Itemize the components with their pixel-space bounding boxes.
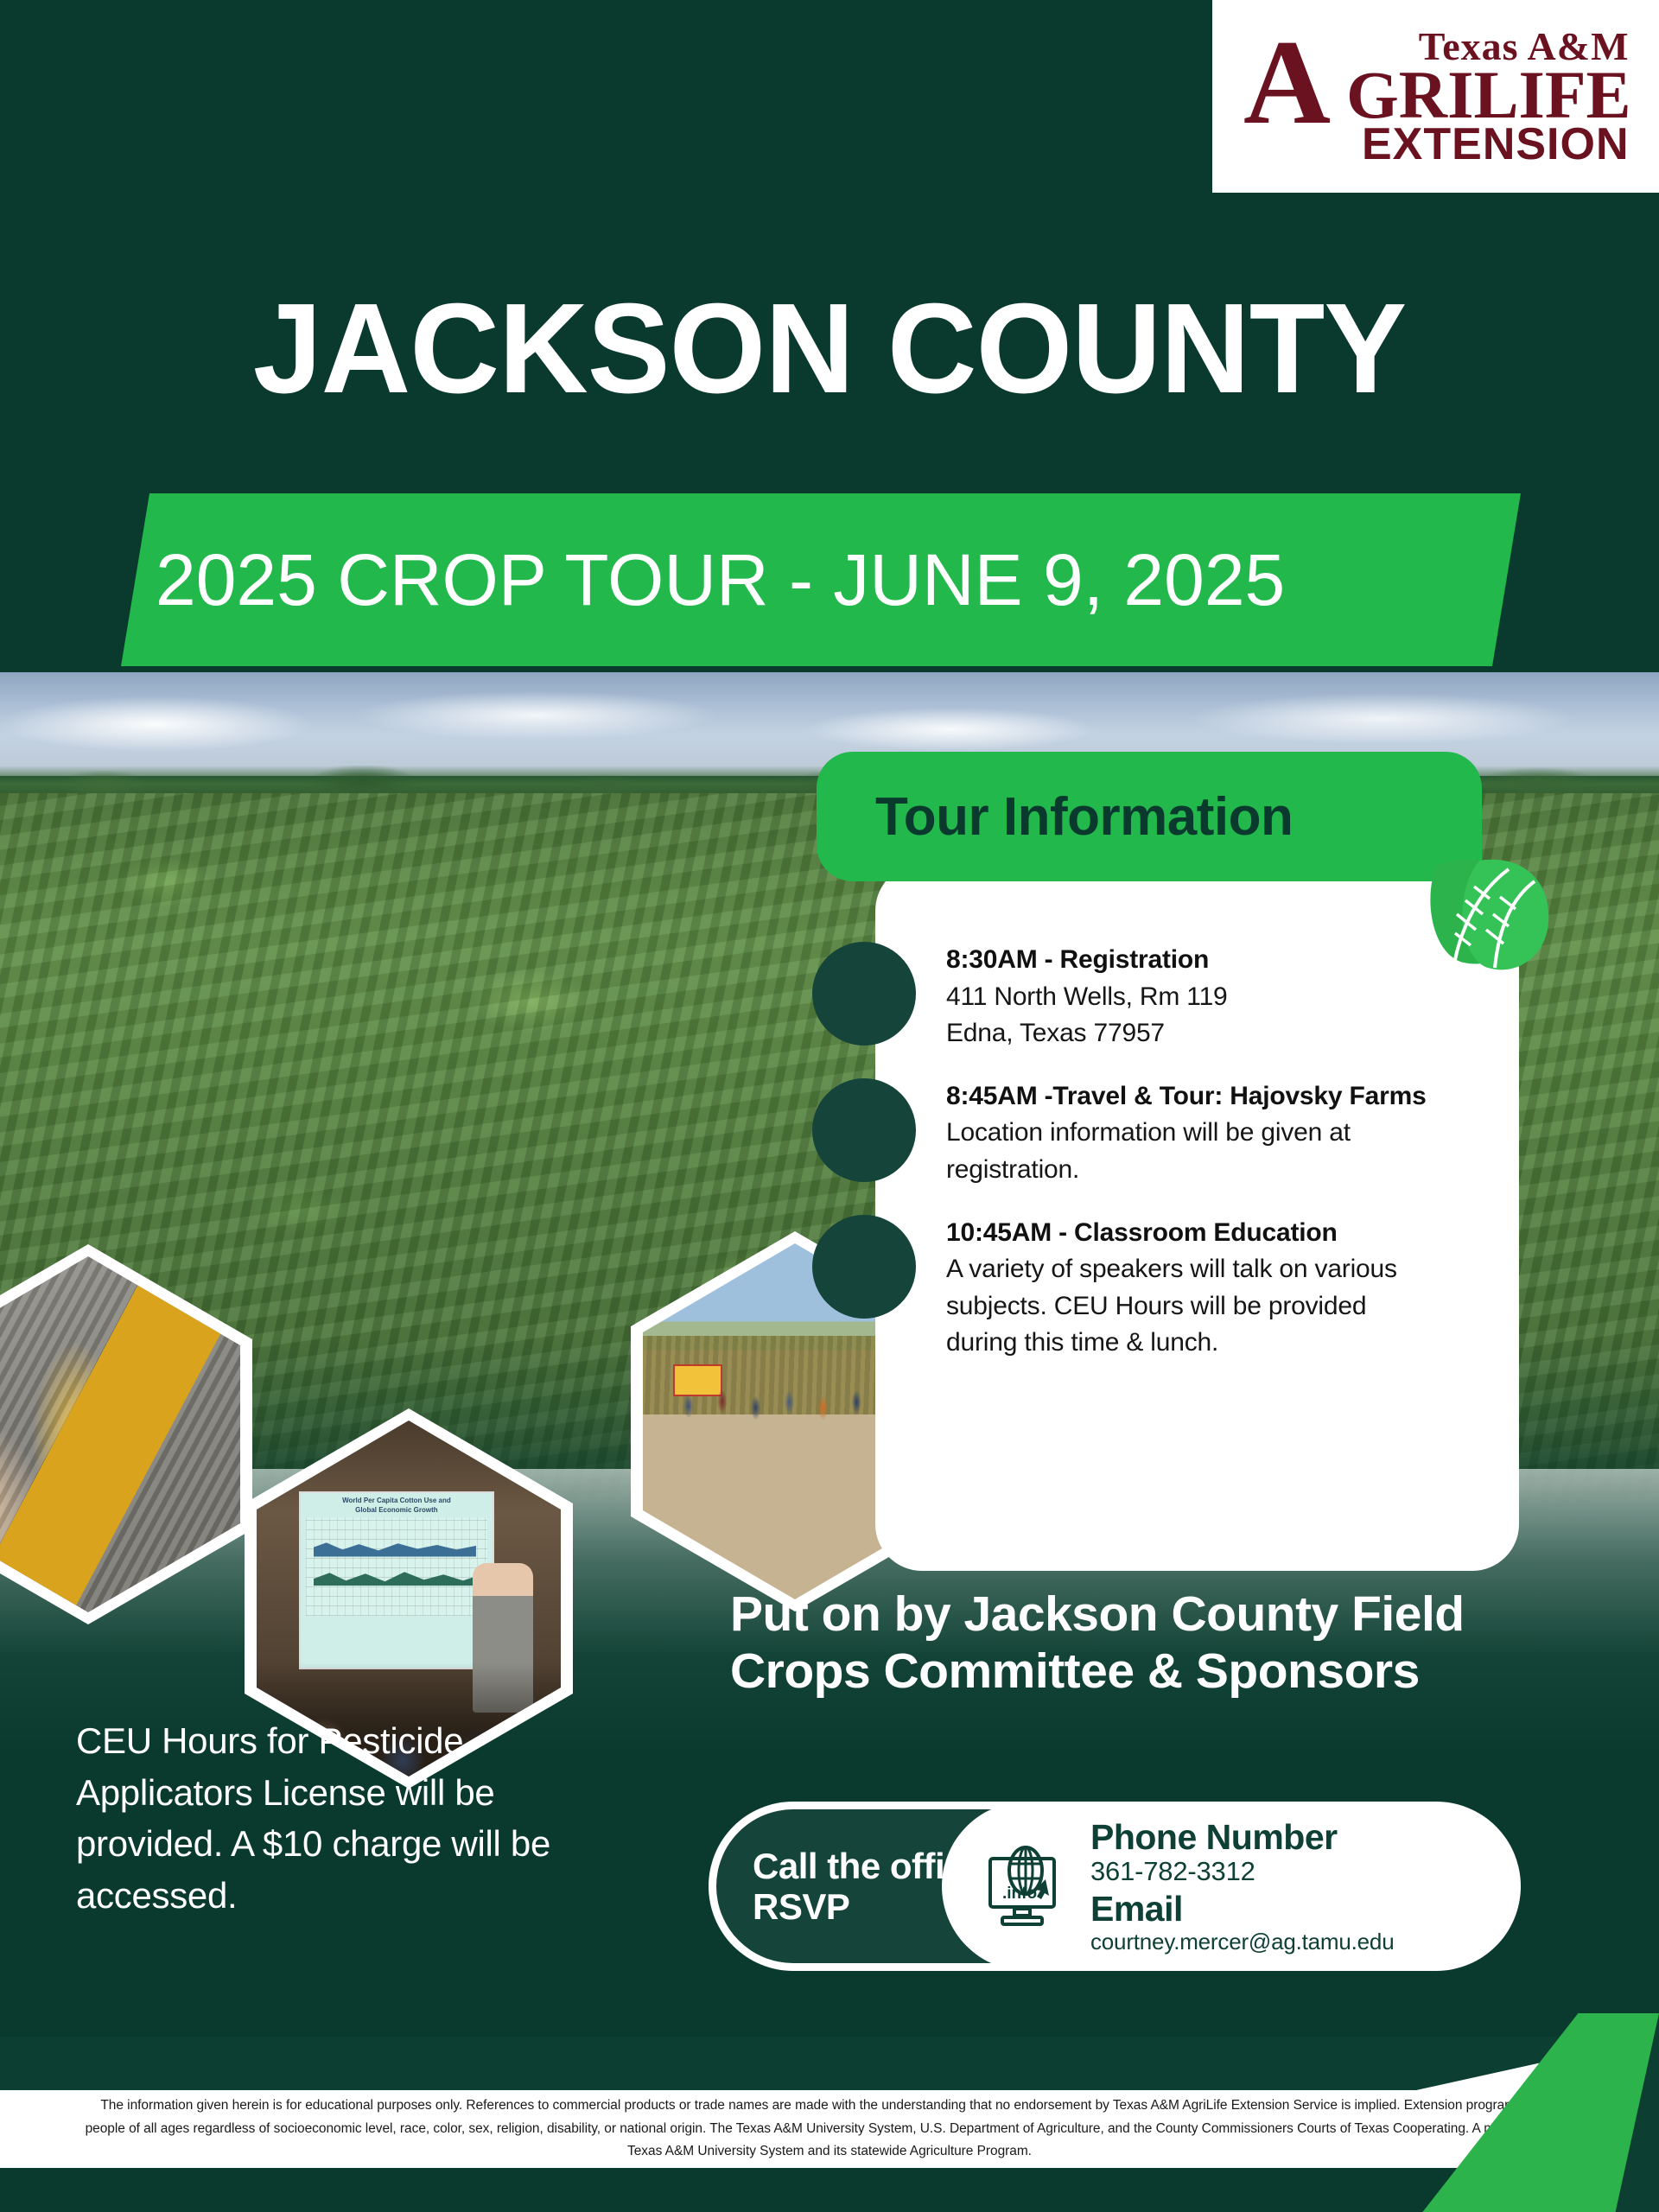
schedule-item: 8:45AM -Travel & Tour: Hajovsky Farms Lo… [875,1078,1519,1189]
tour-information-heading: Tour Information [817,786,1293,848]
phone-value[interactable]: 361-782-3312 [1090,1858,1394,1885]
texas-am-agrilife-extension-logo: A Texas A&M GRILIFE EXTENSION [1212,0,1659,193]
slide-title-line2: Global Economic Growth [301,1506,492,1516]
flyer-page: A Texas A&M GRILIFE EXTENSION JACKSON CO… [0,0,1659,2212]
agrilife-a-mark: A [1243,22,1331,143]
schedule-item-title: 10:45AM - Classroom Education [946,1215,1507,1252]
slide-chart [306,1517,486,1615]
page-title: JACKSON COUNTY [25,285,1634,413]
schedule-item-line: during this time & lunch. [946,1325,1507,1362]
contact-details-section: .info Phone Number 361-782-3312 Email co… [942,1802,1521,1971]
schedule-item-title: 8:30AM - Registration [946,942,1507,979]
diagonal-green-accent [1348,2013,1659,2212]
contact-pill: Call the office to RSVP .info Phon [709,1802,1521,1971]
chart-series-1 [314,1541,476,1557]
tour-schedule-list: 8:30AM - Registration 411 North Wells, R… [875,942,1519,1388]
phone-label: Phone Number [1090,1819,1394,1856]
schedule-item-title: 8:45AM -Travel & Tour: Hajovsky Farms [946,1078,1507,1116]
presentation-slide: World Per Capita Cotton Use and Global E… [299,1491,493,1669]
tour-information-header-tab: Tour Information [817,752,1482,881]
subtitle-text: 2025 CROP TOUR - JUNE 9, 2025 [121,538,1285,622]
schedule-item-line: A variety of speakers will talk on vario… [946,1251,1507,1288]
info-monitor-globe-icon: .info [983,1841,1070,1931]
schedule-item: 10:45AM - Classroom Education A variety … [875,1215,1519,1362]
chart-series-2 [314,1568,476,1586]
svg-text:.info: .info [1002,1885,1037,1903]
schedule-item: 8:30AM - Registration 411 North Wells, R… [875,942,1519,1052]
email-value[interactable]: courtney.mercer@ag.tamu.edu [1090,1930,1394,1954]
schedule-item-line: Edna, Texas 77957 [946,1015,1507,1052]
slide-title-line1: World Per Capita Cotton Use and [301,1493,492,1506]
subtitle-banner: 2025 CROP TOUR - JUNE 9, 2025 [121,493,1521,666]
schedule-item-line: registration. [946,1152,1507,1189]
schedule-item-line: 411 North Wells, Rm 119 [946,979,1507,1016]
email-label: Email [1090,1891,1394,1928]
put-on-by-text: Put on by Jackson County Field Crops Com… [730,1586,1594,1700]
schedule-item-line: subjects. CEU Hours will be provided [946,1288,1507,1325]
ceu-note-text: CEU Hours for Pesticide Applicators Lice… [76,1715,612,1922]
schedule-item-line: Location information will be given at [946,1115,1507,1152]
